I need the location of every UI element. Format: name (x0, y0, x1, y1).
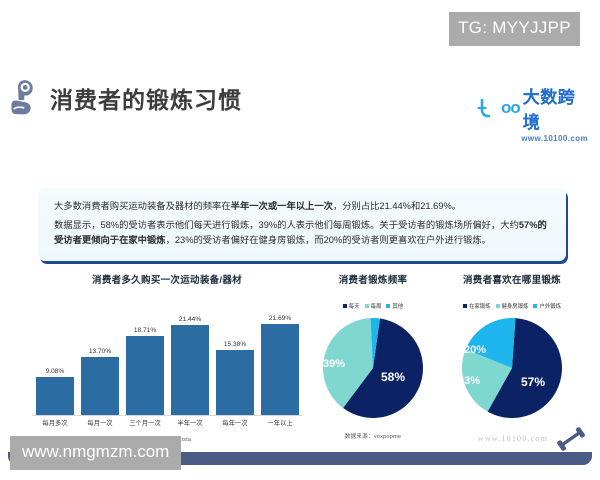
legend-swatch (365, 304, 369, 308)
bar-chart-title: 消费者多久购买一次运动装备/器材 (22, 272, 312, 286)
pie1-legend: 每天每周其他 (306, 302, 440, 310)
bar-rect (81, 357, 119, 415)
bar-column: 13.70% (81, 348, 119, 415)
summary-line-2: 数据显示，58%的受访者表示他们每天进行锻炼，39%的人表示他们每周锻炼。关于受… (54, 218, 550, 248)
top-watermark: TG: MYYJJPP (449, 12, 580, 46)
bar-rect (216, 350, 254, 415)
bar-rect (36, 377, 74, 415)
dumbbell-icon (556, 426, 586, 452)
bar-column: 21.69% (261, 315, 299, 415)
pie2-title: 消费者喜欢在哪里锻炼 (442, 272, 582, 286)
bar-rect (171, 325, 209, 415)
pie1-title: 消费者锻炼频率 (306, 272, 440, 286)
bar-category-label: 三个月一次 (121, 418, 169, 427)
legend-swatch (533, 304, 537, 308)
brand-name: 大数跨境 (523, 83, 588, 133)
pie-value-label: 58% (381, 370, 405, 384)
summary-line-1: 大多数消费者购买运动装备及器材的频率在半年一次或一年以上一次，分别占比21.44… (54, 199, 550, 214)
slide-card: 消费者的锻炼习惯 oo 大数跨境 www.10100.com (0, 60, 600, 405)
bar-value-label: 9.08% (46, 368, 65, 375)
slide-header: 消费者的锻炼习惯 oo 大数跨境 www.10100.com (0, 78, 600, 124)
bar-column: 18.71% (126, 327, 164, 415)
pie-value-label: 57% (521, 375, 545, 389)
brand-url: www.10100.com (476, 134, 588, 143)
bar-column: 15.38% (216, 341, 254, 415)
legend-swatch (343, 304, 347, 308)
legend-swatch (496, 304, 500, 308)
summary-line-1-c: ，分别占比21.44%和21.69%。 (333, 201, 461, 211)
brand-logo: oo 大数跨境 www.10100.com (476, 83, 588, 121)
legend-item: 每周 (365, 302, 382, 310)
charts-row: 消费者多久购买一次运动装备/器材 9.08%13.70%18.71%21.44%… (0, 272, 600, 452)
pie1-plot-area: 58%39% (306, 318, 440, 423)
legend-item: 在家锻炼 (463, 302, 491, 310)
legend-item: 每天 (343, 302, 360, 310)
bar-rect (126, 336, 164, 415)
summary-line-2-a: 数据显示，58%的受访者表示他们每天进行锻炼，39%的人表示他们每周锻炼。关于受… (54, 220, 519, 230)
bar-column: 21.44% (171, 316, 209, 415)
bar-value-label: 15.38% (224, 341, 246, 348)
legend-label: 健身房锻炼 (502, 302, 529, 310)
bar-plot-area: 9.08%13.70%18.71%21.44%15.38%21.69% (32, 300, 302, 415)
pie-value-label: 39% (323, 358, 345, 370)
bar-category-label: 半年一次 (166, 418, 214, 427)
pie1-source: 数据来源：voxpopme (306, 432, 440, 440)
legend-label: 在家锻炼 (469, 302, 491, 310)
bar-column: 9.08% (36, 368, 74, 415)
bar-category-label: 每年一次 (211, 418, 259, 427)
bar-value-label: 21.44% (179, 316, 201, 323)
summary-line-2-c: ，23%的受访者偏好在健身房锻炼，而20%的受访者则更喜欢在户外进行锻炼。 (166, 235, 491, 245)
site-watermark: www.10100.com (478, 434, 548, 443)
pie2-plot-area: 57%23%20% (442, 318, 582, 423)
brand-mark-icon (476, 97, 498, 119)
bar-category-label: 每月多次 (31, 418, 79, 427)
brand-100-icon: oo (501, 98, 520, 118)
bar-axis-line (32, 415, 302, 416)
summary-line-1-a: 大多数消费者购买运动装备及器材的频率在 (54, 201, 231, 211)
summary-panel: 大多数消费者购买运动装备及器材的频率在半年一次或一年以上一次，分别占比21.44… (38, 188, 566, 261)
legend-label: 每周 (371, 302, 382, 310)
summary-line-1-highlight: 半年一次或一年以上一次 (231, 201, 333, 211)
bar-value-label: 13.70% (89, 348, 111, 355)
bar-category-label: 每月一次 (76, 418, 124, 427)
pie2-legend: 在家锻炼健身房锻炼户外锻炼 (442, 302, 582, 310)
bottom-watermark: www.nmgmzm.com (10, 436, 181, 470)
legend-label: 户外锻炼 (539, 302, 561, 310)
bar-chart: 消费者多久购买一次运动装备/器材 9.08%13.70%18.71%21.44%… (22, 272, 312, 452)
legend-item: 健身房锻炼 (496, 302, 529, 310)
page-title: 消费者的锻炼习惯 (50, 81, 242, 115)
pie-chart-frequency: 消费者锻炼频率 每天每周其他 58%39% 数据来源：voxpopme (306, 272, 440, 452)
bar-rect (261, 324, 299, 415)
flexed-arm-icon (8, 78, 50, 120)
legend-swatch (386, 304, 390, 308)
pie-value-label: 20% (464, 344, 486, 356)
legend-label: 其他 (392, 302, 403, 310)
pie-value-label: 23% (458, 375, 480, 387)
legend-swatch (463, 304, 467, 308)
bar-value-label: 18.71% (134, 327, 156, 334)
legend-item: 其他 (386, 302, 403, 310)
legend-label: 每天 (349, 302, 360, 310)
pie-chart-location: 消费者喜欢在哪里锻炼 在家锻炼健身房锻炼户外锻炼 57%23%20% (442, 272, 582, 452)
bar-value-label: 21.69% (269, 315, 291, 322)
bar-category-labels: 每月多次每月一次三个月一次半年一次每年一次一年以上 (32, 418, 302, 432)
legend-item: 户外锻炼 (533, 302, 561, 310)
bar-category-label: 一年以上 (256, 418, 304, 427)
pie-svg (462, 318, 562, 418)
slide-page: TG: MYYJJPP 消费者的锻炼习惯 (0, 0, 600, 480)
